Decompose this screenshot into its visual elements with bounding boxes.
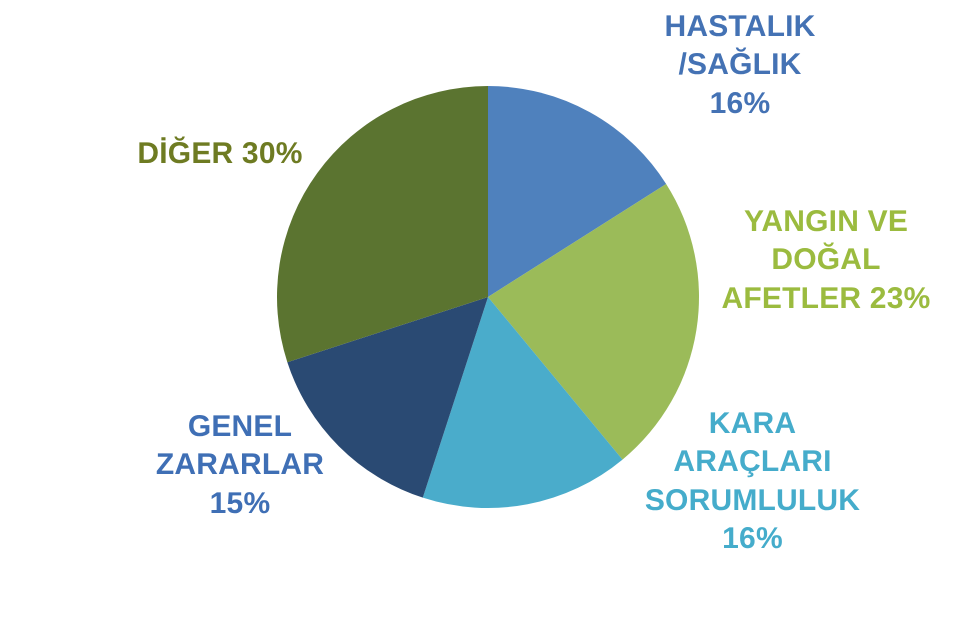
pie-label-diger: DİĞER 30% [95, 135, 345, 173]
pie-label-genel-zararlar: GENEL ZARARLAR 15% [120, 408, 360, 523]
pie-label-kara-araclari-sorumluluk: KARA ARAÇLARI SORUMLULUK 16% [610, 405, 895, 559]
chart-area: HASTALIK /SAĞLIK 16% YANGIN VE DOĞAL AFE… [0, 0, 960, 620]
pie-label-yangin-ve-dogal-afetler: YANGIN VE DOĞAL AFETLER 23% [700, 203, 952, 318]
pie-label-hastalik-saglik: HASTALIK /SAĞLIK 16% [610, 8, 870, 123]
pie-chart-page: HASTALIK /SAĞLIK 16% YANGIN VE DOĞAL AFE… [0, 0, 960, 620]
